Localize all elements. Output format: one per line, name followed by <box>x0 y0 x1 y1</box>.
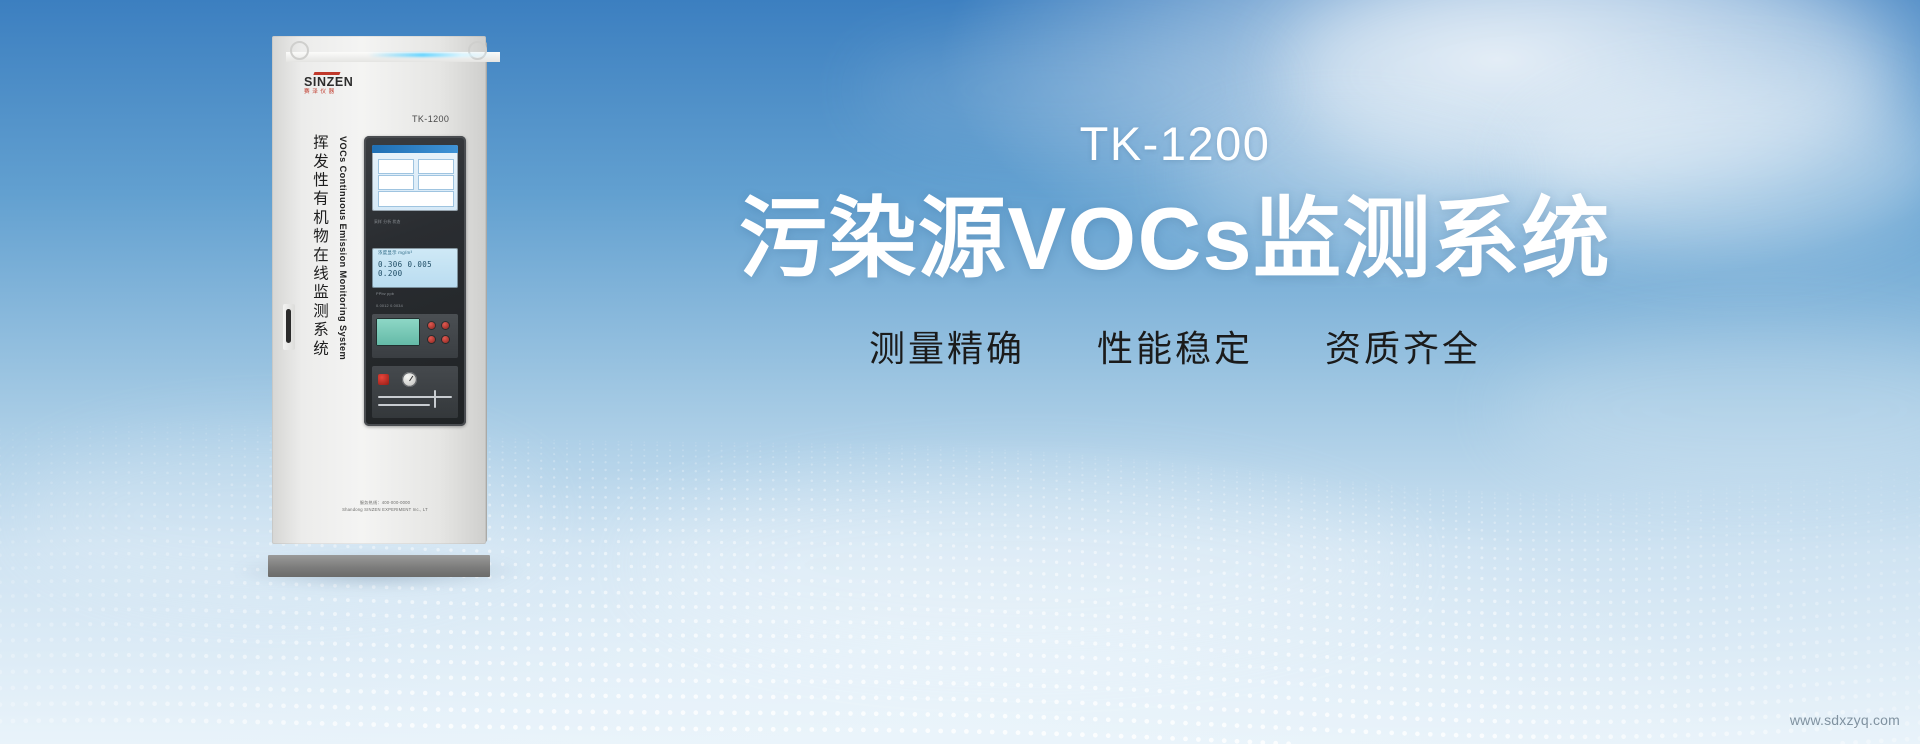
tubing <box>434 390 436 408</box>
cloud-decoration <box>1280 0 1900 190</box>
control-knob <box>442 336 449 343</box>
cabinet-vertical-english-label: VOCs Continuous Emission Monitoring Syst… <box>338 136 347 360</box>
panel-micro-label-1: 采样 分析 状态 <box>374 220 458 225</box>
controller-display <box>376 318 420 346</box>
tagline-item: 测量精确 <box>869 331 1025 367</box>
cloud-decoration <box>860 30 1280 150</box>
cloud-decoration <box>1520 80 1920 250</box>
tagline-item: 性能稳定 <box>1097 331 1253 367</box>
lift-ring-icon <box>290 41 309 60</box>
lift-ring-icon <box>468 41 487 60</box>
panel-micro-label-2: 0.0012 0.0034 <box>376 304 403 308</box>
cloud-decoration <box>1500 330 1920 490</box>
hmi-title-bar <box>372 145 458 153</box>
panel-unit-label: PPbv ppb <box>376 292 394 296</box>
cabinet-footer-line-1: 服务热线：400-000-0000 <box>320 500 450 507</box>
pressure-gauge-icon <box>402 372 417 387</box>
cabinet-vertical-chinese-label: 挥发性有机物在线监测系统 <box>310 134 330 358</box>
tubing <box>378 396 452 398</box>
brand-accent-bar <box>313 72 340 75</box>
control-knob <box>428 336 435 343</box>
tagline-list: 测量精确 性能稳定 资质齐全 <box>560 331 1790 367</box>
cabinet-base <box>268 555 490 577</box>
cabinet-model-label: TK-1200 <box>412 114 449 124</box>
concentration-value: 0.306 0.005 0.200 <box>378 260 458 278</box>
brand-name: SINZEN <box>304 76 370 89</box>
cabinet-front-panel: SINZEN 赛泽仪器 TK-1200 挥发性有机物在线监测系统 VOCs Co… <box>272 36 486 544</box>
emergency-stop-button <box>378 374 389 385</box>
hmi-cell <box>378 175 414 190</box>
concentration-display: 浓度显示 mg/m³ 0.306 0.005 0.200 <box>372 248 458 288</box>
hmi-cell <box>418 175 454 190</box>
instrument-window: 采样 分析 状态 浓度显示 mg/m³ 0.306 0.005 0.200 PP… <box>364 136 466 426</box>
hmi-cell <box>378 159 414 174</box>
controller-panel <box>372 314 458 358</box>
product-cabinet: SINZEN 赛泽仪器 TK-1200 挥发性有机物在线监测系统 VOCs Co… <box>258 20 498 580</box>
tubing <box>378 404 430 406</box>
concentration-label: 浓度显示 mg/m³ <box>378 250 412 256</box>
banner-copy: TK-1200 污染源VOCs监测系统 测量精确 性能稳定 资质齐全 <box>560 120 1790 367</box>
cloud-decoration <box>1180 120 1510 230</box>
tagline-item: 资质齐全 <box>1325 331 1481 367</box>
hmi-cell <box>418 159 454 174</box>
control-knob <box>442 322 449 329</box>
cabinet-door-handle <box>283 304 295 350</box>
valve-panel <box>372 366 458 418</box>
cloud-decoration <box>640 470 1400 660</box>
hmi-touch-screen <box>372 145 458 211</box>
cabinet-light-accent <box>368 53 498 57</box>
product-banner: SINZEN 赛泽仪器 TK-1200 挥发性有机物在线监测系统 VOCs Co… <box>0 0 1920 744</box>
cabinet-footer-text: 服务热线：400-000-0000 Shandong SINZEN EXPERI… <box>320 500 450 514</box>
hmi-chart-area <box>378 191 454 207</box>
cabinet-footer-line-2: Shandong SINZEN EXPERIMENT Inc., LT <box>320 507 450 514</box>
model-line: TK-1200 <box>560 120 1790 167</box>
site-watermark: www.sdxzyq.com <box>1790 712 1900 728</box>
control-knob <box>428 322 435 329</box>
page-title: 污染源VOCs监测系统 <box>560 193 1790 285</box>
brand-logo: SINZEN 赛泽仪器 <box>304 72 370 97</box>
brand-subtitle: 赛泽仪器 <box>304 88 370 97</box>
